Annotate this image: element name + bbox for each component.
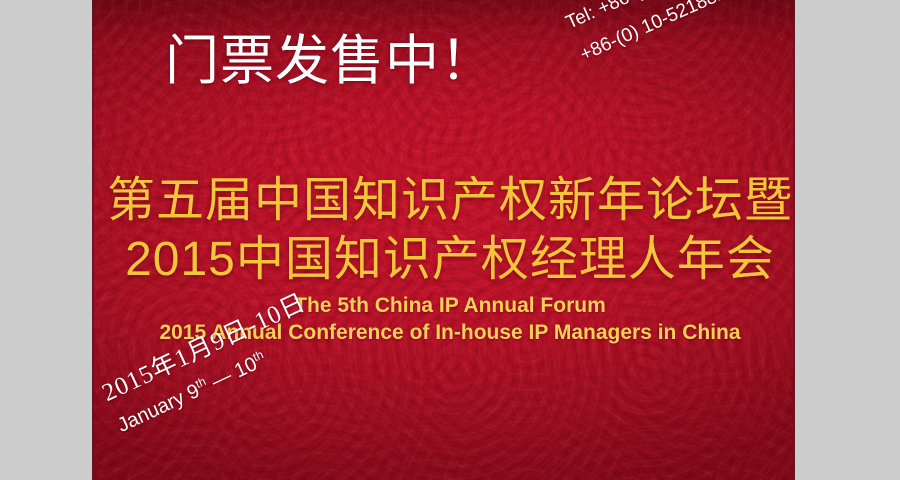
panel-left-rule: [92, 0, 94, 480]
event-title-chinese-line-1: 第五届中国知识产权新年论坛暨: [0, 172, 900, 231]
event-title-english-line-1: The 5th China IP Annual Forum: [0, 292, 900, 319]
poster-text-layer: 门票发售中！ Tel: +86-(0) 10-65159855 +86-(0) …: [0, 0, 900, 480]
event-title-chinese-line-2: 2015中国知识产权经理人年会: [0, 231, 900, 290]
event-title-english: The 5th China IP Annual Forum 2015 Annua…: [0, 292, 900, 347]
poster-canvas: 门票发售中！ Tel: +86-(0) 10-65159855 +86-(0) …: [0, 0, 900, 480]
event-title-english-line-2: 2015 Annual Conference of In-house IP Ma…: [0, 319, 900, 347]
event-title-chinese: 第五届中国知识产权新年论坛暨 2015中国知识产权经理人年会: [0, 172, 900, 289]
contact-phone-block: Tel: +86-(0) 10-65159855 +86-(0) 10-5218…: [560, 0, 784, 72]
ticket-sale-headline: 门票发售中！: [165, 33, 495, 90]
panel-right-rule: [793, 0, 795, 480]
